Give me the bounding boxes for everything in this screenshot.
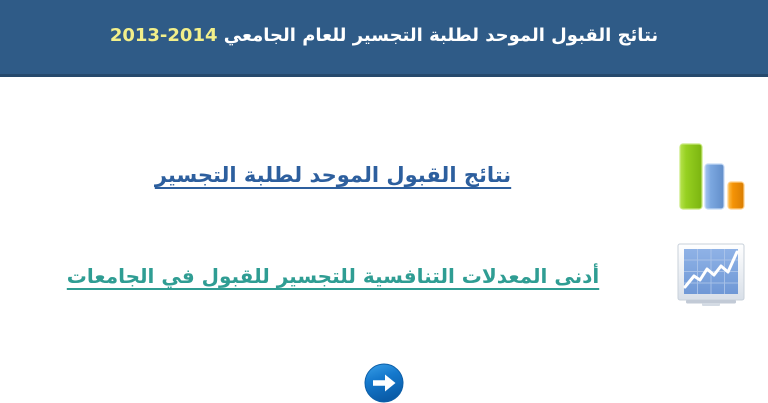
bar-chart-icon-cell: [666, 138, 758, 212]
bar-chart-icon: [675, 138, 749, 212]
page-title-text: نتائج القبول الموحد لطلبة التجسير للعام …: [224, 25, 658, 46]
next-button-wrap: [0, 363, 768, 403]
line-chart-icon: [676, 242, 748, 310]
link-minimum-competitive-averages[interactable]: أدنى المعدلات التنافسية للتجسير للقبول ف…: [67, 263, 599, 290]
link-unified-admission-results[interactable]: نتائج القبول الموحد لطلبة التجسير: [155, 161, 511, 189]
results-link-row: نتائج القبول الموحد لطلبة التجسير: [0, 138, 758, 212]
line-chart-icon-cell: [666, 242, 758, 310]
averages-link-cell: أدنى المعدلات التنافسية للتجسير للقبول ف…: [0, 263, 666, 290]
page-title: نتائج القبول الموحد لطلبة التجسير للعام …: [110, 26, 658, 48]
next-arrow-button[interactable]: [364, 363, 404, 403]
results-link-cell: نتائج القبول الموحد لطلبة التجسير: [0, 161, 666, 189]
page-title-year: 2013-2014: [110, 26, 218, 46]
header-banner: نتائج القبول الموحد لطلبة التجسير للعام …: [0, 0, 768, 77]
averages-link-row: أدنى المعدلات التنافسية للتجسير للقبول ف…: [0, 242, 758, 310]
page-body: نتائج القبول الموحد لطلبة التجسير: [0, 80, 768, 400]
